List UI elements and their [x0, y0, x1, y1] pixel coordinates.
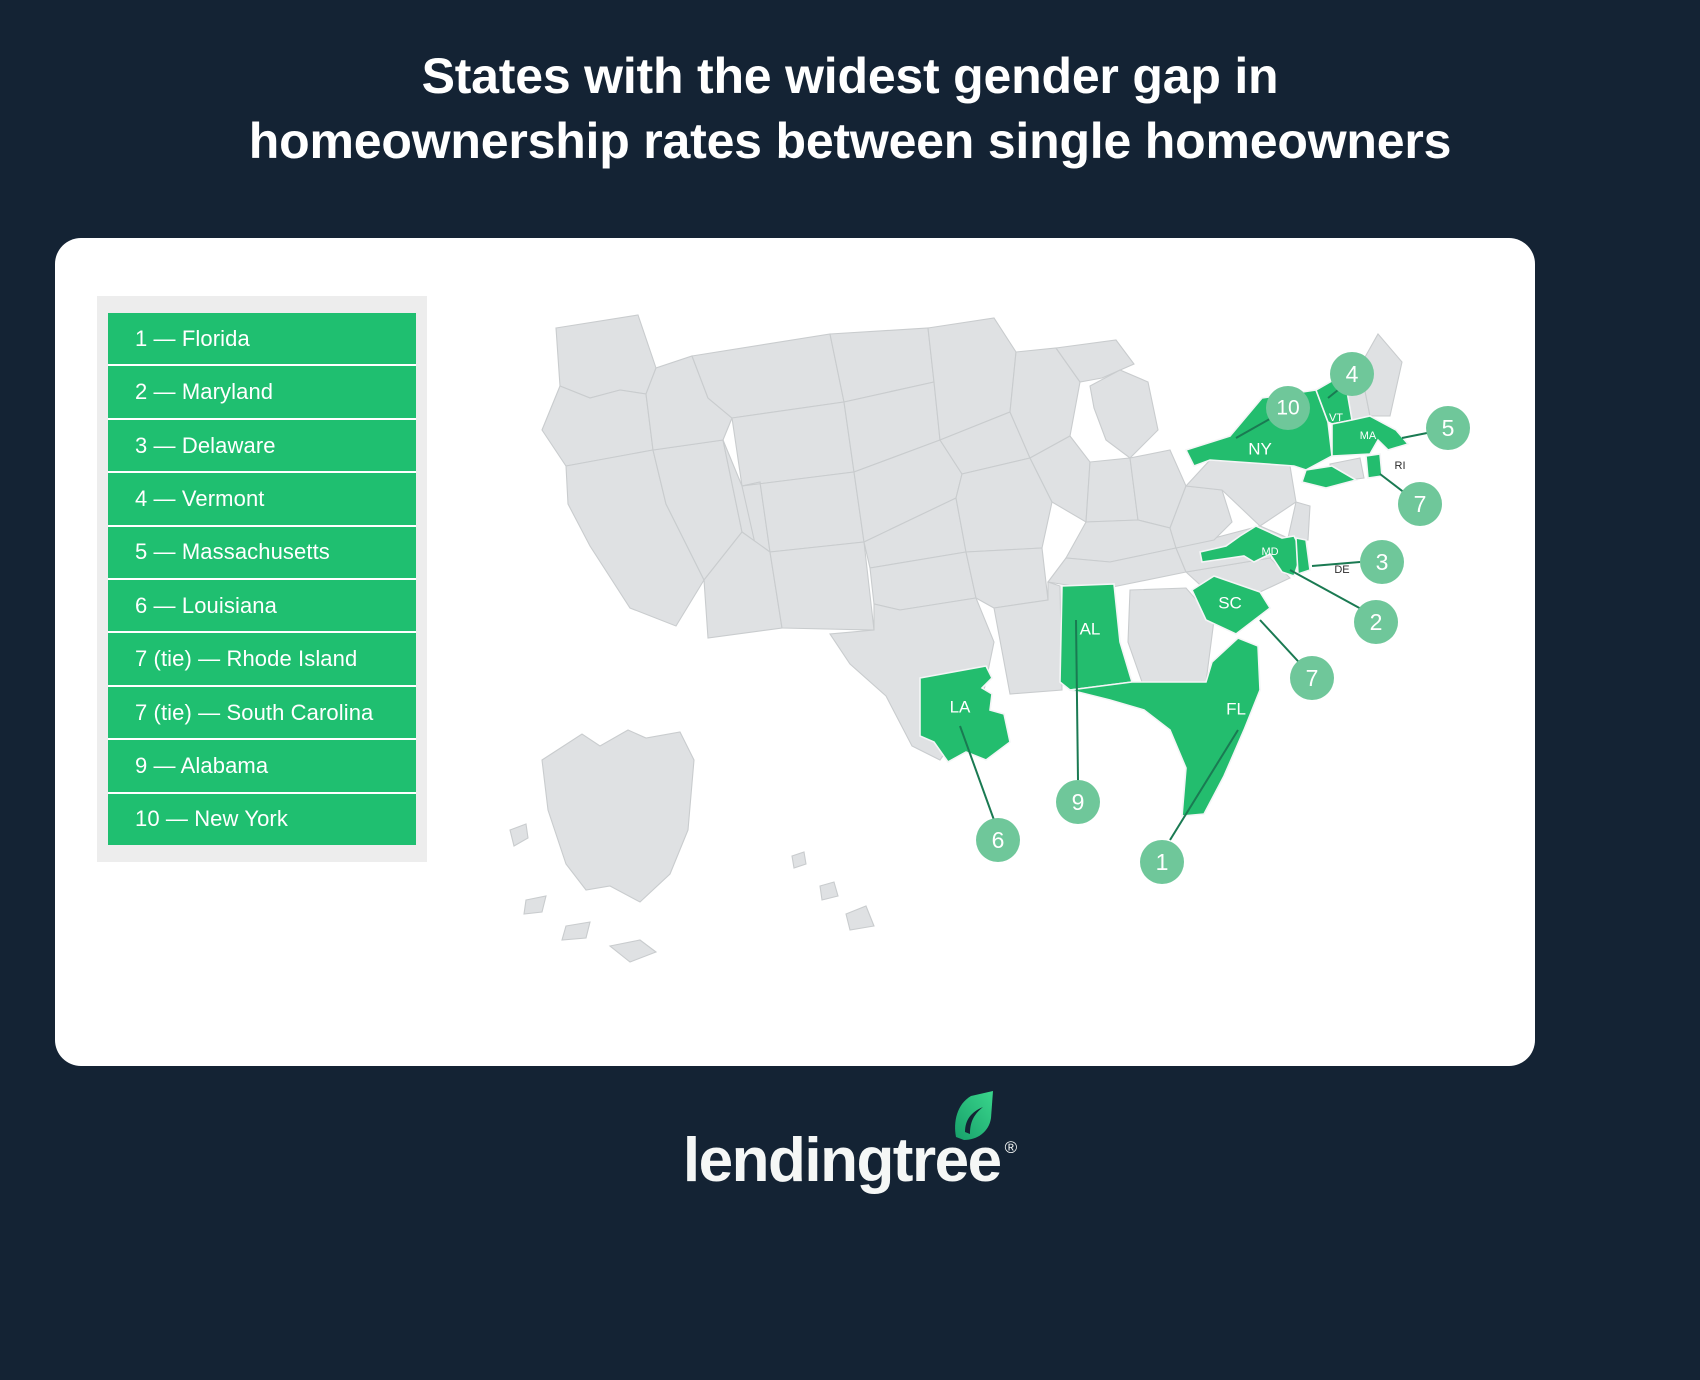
- legend-panel: 1 — Florida 2 — Maryland 3 — Delaware 4 …: [97, 296, 427, 862]
- legend-item-label: 5 — Massachusetts: [135, 539, 330, 565]
- callout-marker-9[interactable]: 9: [1056, 780, 1100, 824]
- leaf-icon: [951, 1090, 995, 1142]
- callout-number: 5: [1442, 415, 1455, 441]
- legend-item-label: 4 — Vermont: [135, 486, 265, 512]
- list-item[interactable]: 7 (tie) — South Carolina: [108, 687, 416, 740]
- legend-item-label: 10 — New York: [135, 806, 288, 832]
- state-shape-ri[interactable]: [1366, 454, 1382, 478]
- state-label-al: AL: [1080, 619, 1101, 638]
- legend-list: 1 — Florida 2 — Maryland 3 — Delaware 4 …: [108, 313, 416, 845]
- state-shape-de[interactable]: [1296, 538, 1310, 574]
- callout-number: 10: [1276, 397, 1299, 420]
- callout-marker-3[interactable]: 3: [1360, 540, 1404, 584]
- callout-number: 9: [1072, 789, 1085, 815]
- legend-item-label: 2 — Maryland: [135, 379, 273, 405]
- callout-number: 7: [1414, 491, 1427, 517]
- legend-item-label: 7 (tie) — Rhode Island: [135, 646, 357, 672]
- list-item[interactable]: 1 — Florida: [108, 313, 416, 366]
- list-item[interactable]: 3 — Delaware: [108, 420, 416, 473]
- list-item[interactable]: 2 — Maryland: [108, 366, 416, 419]
- callout-marker-4[interactable]: 4: [1330, 352, 1374, 396]
- callout-marker-7-sc[interactable]: 7: [1290, 656, 1334, 700]
- page-title-line-1: States with the widest gender gap in: [0, 44, 1700, 109]
- legend-item-label: 3 — Delaware: [135, 433, 276, 459]
- page-title-line-2: homeownership rates between single homeo…: [0, 109, 1700, 174]
- state-label-md: MD: [1261, 546, 1278, 558]
- callout-number: 4: [1346, 361, 1359, 387]
- callout-marker-7-ri[interactable]: 7: [1398, 482, 1442, 526]
- state-label-sc: SC: [1218, 593, 1242, 612]
- state-label-ny: NY: [1248, 439, 1272, 458]
- callout-marker-6[interactable]: 6: [976, 818, 1020, 862]
- page-title: States with the widest gender gap in hom…: [0, 44, 1700, 174]
- callout-number: 1: [1156, 849, 1169, 875]
- list-item[interactable]: 9 — Alabama: [108, 740, 416, 793]
- callout-number: 3: [1376, 549, 1389, 575]
- list-item[interactable]: 6 — Louisiana: [108, 580, 416, 633]
- callout-marker-2[interactable]: 2: [1354, 600, 1398, 644]
- registered-trademark: ®: [1005, 1138, 1018, 1158]
- state-label-ri: RI: [1395, 460, 1406, 472]
- state-label-vt: VT: [1329, 412, 1343, 424]
- callout-marker-10[interactable]: 10: [1266, 386, 1310, 430]
- state-label-ma: MA: [1360, 430, 1377, 442]
- list-item[interactable]: 10 — New York: [108, 794, 416, 845]
- state-label-fl: FL: [1226, 699, 1246, 718]
- legend-item-label: 6 — Louisiana: [135, 593, 277, 619]
- callout-number: 7: [1306, 665, 1319, 691]
- callout-number: 2: [1370, 609, 1383, 635]
- list-item[interactable]: 4 — Vermont: [108, 473, 416, 526]
- callout-number: 6: [992, 827, 1005, 853]
- legend-item-label: 7 (tie) — South Carolina: [135, 700, 373, 726]
- callout-marker-5[interactable]: 5: [1426, 406, 1470, 450]
- us-choropleth-map: VT NY MA RI MD DE SC AL LA FL 4 10: [470, 290, 1510, 1020]
- callout-marker-1[interactable]: 1: [1140, 840, 1184, 884]
- list-item[interactable]: 7 (tie) — Rhode Island: [108, 633, 416, 686]
- brand-logo: lendingtree ®: [0, 1130, 1700, 1192]
- legend-item-label: 9 — Alabama: [135, 753, 268, 779]
- state-label-la: LA: [950, 697, 971, 716]
- state-label-de: DE: [1334, 564, 1349, 576]
- legend-item-label: 1 — Florida: [135, 326, 250, 352]
- list-item[interactable]: 5 — Massachusetts: [108, 527, 416, 580]
